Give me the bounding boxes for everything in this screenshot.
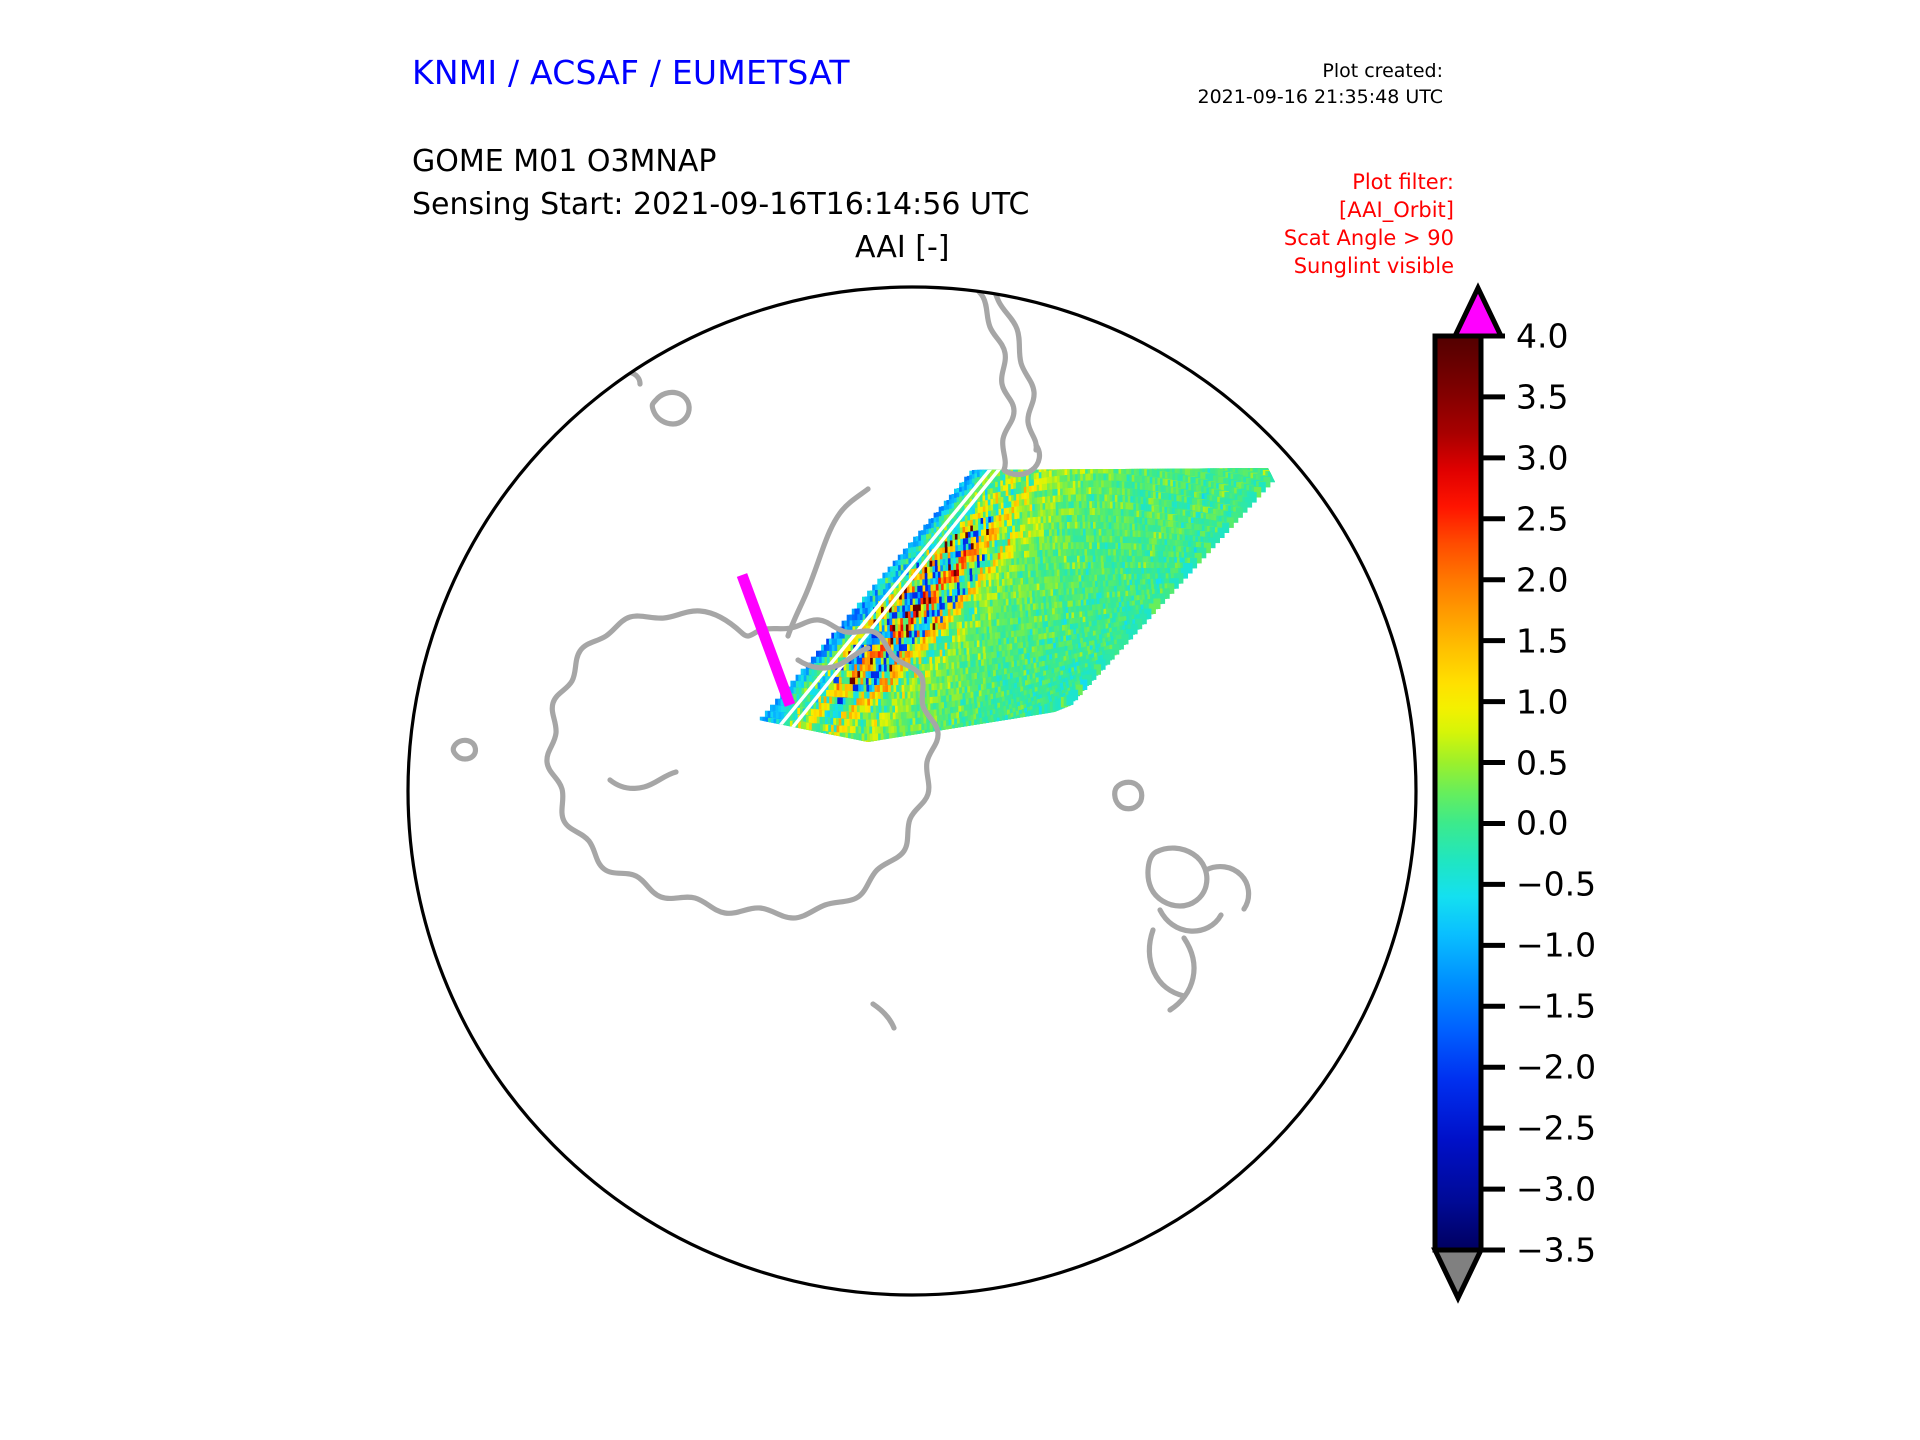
colorbar-tick-label: −1.5 [1516,987,1596,1026]
map-panel [0,0,1440,1440]
colorbar-tick-label: −3.5 [1516,1231,1596,1270]
colorbar-ticks [1481,336,1505,1250]
colorbar-tick-label: −2.5 [1516,1109,1596,1148]
colorbar-tick-label: −1.0 [1516,926,1596,965]
colorbar-tick-label: 0.0 [1516,804,1568,843]
colorbar-tick-label: 4.0 [1516,317,1568,356]
colorbar-tick-label: 2.0 [1516,560,1568,599]
colorbar-tick-label: −3.0 [1516,1170,1596,1209]
colorbar-tick-label: 1.5 [1516,621,1568,660]
colorbar-tick-label: −2.0 [1516,1048,1596,1087]
colorbar-tick-label: 2.5 [1516,499,1568,538]
globe-disc [408,287,1416,1295]
colorbar-tick-label: 1.0 [1516,682,1568,721]
colorbar[interactable]: 4.03.53.02.52.01.51.00.50.0−0.5−1.0−1.5−… [1426,280,1846,1310]
colorbar-gradient [1435,336,1481,1250]
plot-canvas: KNMI / ACSAF / EUMETSAT GOME M01 O3MNAP … [0,0,1920,1440]
colorbar-tick-label: 3.0 [1516,438,1568,477]
colorbar-over-range-arrow [1455,288,1501,336]
colorbar-tick-label: 0.5 [1516,743,1568,782]
colorbar-under-range-arrow [1435,1250,1481,1298]
colorbar-tick-label: −0.5 [1516,865,1596,904]
colorbar-tick-label: 3.5 [1516,377,1568,416]
